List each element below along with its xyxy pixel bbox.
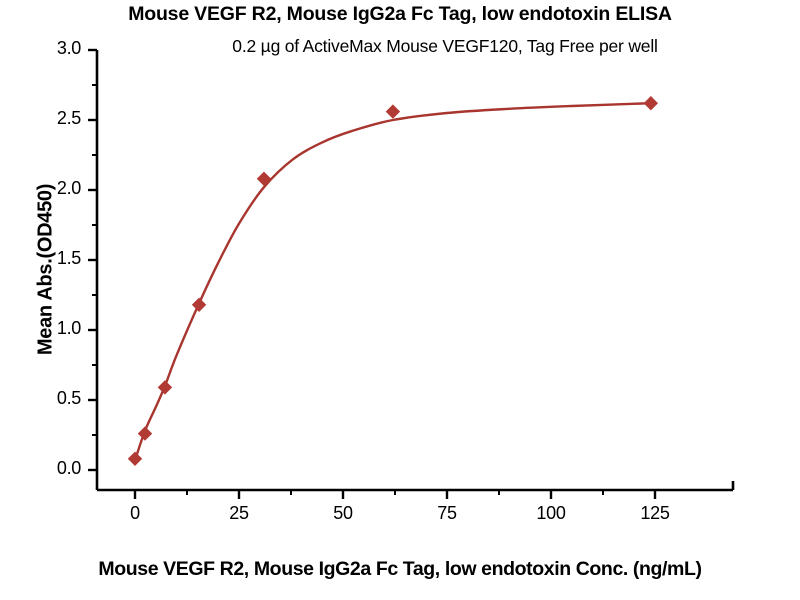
x-tick-label: 75 — [417, 503, 477, 524]
x-tick-label: 0 — [105, 503, 165, 524]
y-tick-label: 1.5 — [21, 248, 81, 269]
data-point-marker — [158, 380, 172, 394]
axis-ticks — [88, 50, 655, 499]
data-point-marker — [138, 426, 152, 440]
y-tick-label: 2.0 — [21, 178, 81, 199]
data-point-marker — [386, 104, 400, 118]
data-point-marker — [257, 172, 271, 186]
y-tick-label: 2.5 — [21, 108, 81, 129]
fit-curve — [135, 103, 651, 460]
y-tick-label: 3.0 — [21, 38, 81, 59]
x-tick-label: 50 — [313, 503, 373, 524]
data-point-marker — [192, 298, 206, 312]
x-tick-label: 100 — [521, 503, 581, 524]
x-tick-label: 25 — [209, 503, 269, 524]
y-tick-label: 0.5 — [21, 388, 81, 409]
y-tick-label: 0.0 — [21, 458, 81, 479]
x-tick-label: 125 — [625, 503, 685, 524]
chart-figure: Mouse VEGF R2, Mouse IgG2a Fc Tag, low e… — [0, 0, 800, 600]
y-tick-label: 1.0 — [21, 318, 81, 339]
data-markers — [128, 96, 658, 466]
data-point-marker — [128, 452, 142, 466]
data-point-marker — [644, 96, 658, 110]
